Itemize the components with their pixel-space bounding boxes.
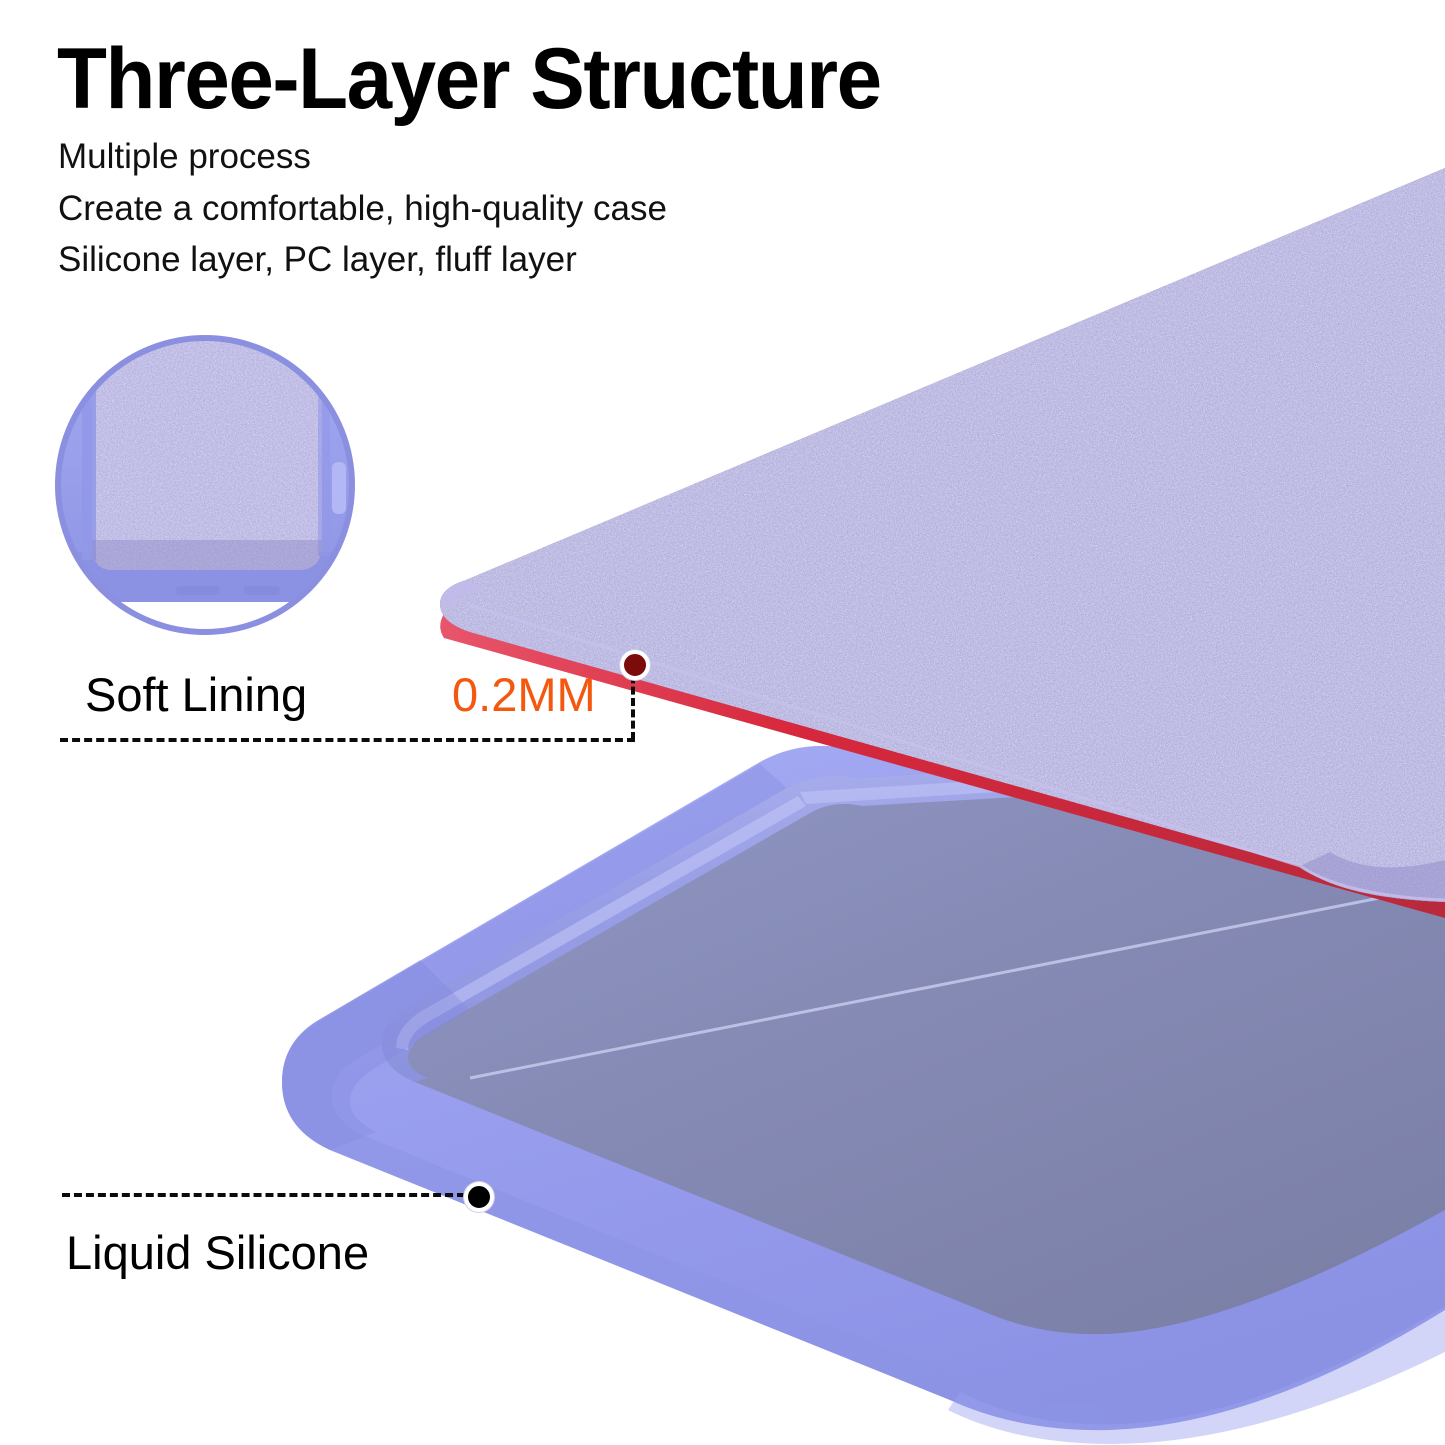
soft-lining-leader-line [60,738,635,742]
inset-side-button [332,462,346,514]
inset-fluff-bottom-shadow [92,540,322,570]
subtitle-line-3: Silicone layer, PC layer, fluff layer [58,241,577,279]
inset-rim-notch-1 [176,586,220,595]
inset-rim-notch-2 [244,586,280,595]
soft-lining-closeup-inset [55,335,355,635]
subtitle-line-1: Multiple process [58,138,311,176]
liquid-silicone-marker-dot [464,1182,494,1212]
thickness-value-label: 0.2MM [452,670,596,720]
inset-inner-wall-left [82,338,96,560]
soft-lining-label: Soft Lining [85,670,307,720]
soft-lining-marker-dot [620,650,650,680]
inset-fluff-texture-b [92,338,322,570]
subtitle-line-2: Create a comfortable, high-quality case [58,190,667,228]
liquid-silicone-leader-line [62,1193,477,1197]
liquid-silicone-label: Liquid Silicone [66,1228,369,1278]
infographic-canvas: Three-Layer Structure Multiple process C… [0,0,1445,1445]
inset-inner-wall-right [318,338,330,556]
page-title: Three-Layer Structure [57,33,881,125]
